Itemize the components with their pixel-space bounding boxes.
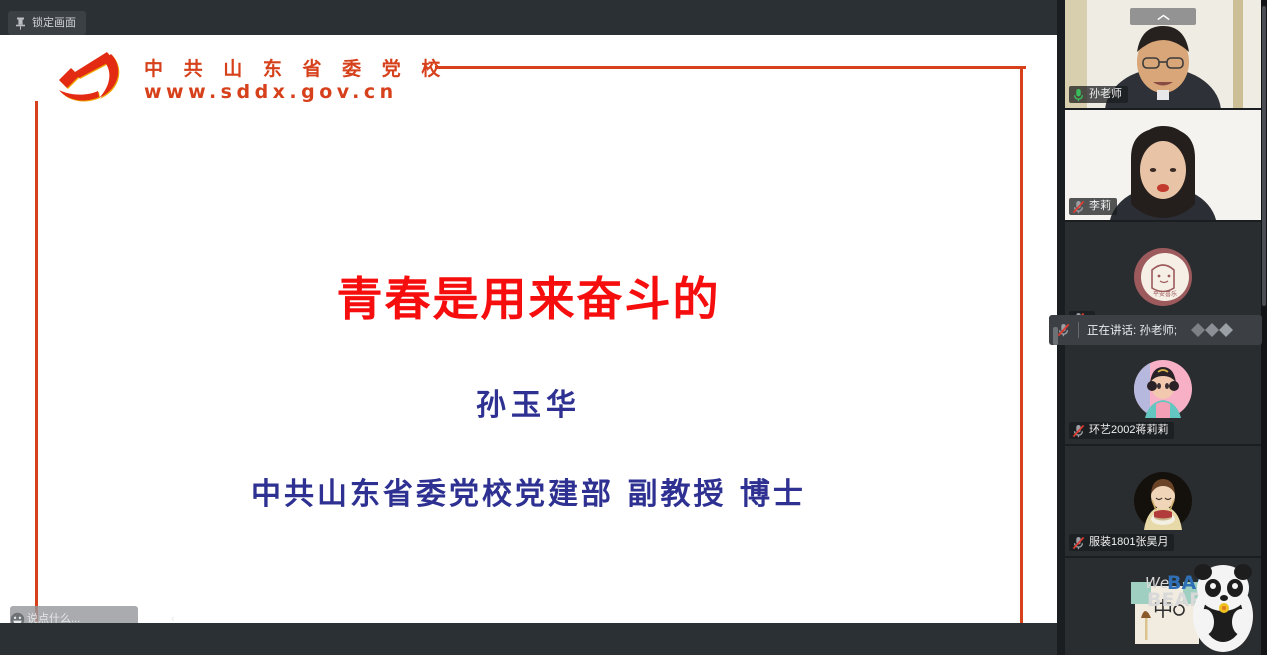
smiley-icon[interactable] (10, 606, 25, 623)
participant-name: 李莉 (1089, 199, 1111, 214)
mic-muted-icon (1057, 323, 1070, 337)
organization-website: www.sddx.gov.cn (144, 82, 447, 104)
mic-muted-icon (1072, 424, 1085, 438)
slide-wordmark: 中 共 山 东 省 委 党 校 www.sddx.gov.cn (144, 59, 447, 104)
mic-muted-icon (1072, 536, 1085, 550)
mic-muted-icon (1072, 200, 1085, 214)
shared-screen-stage: 锁定画面 (0, 0, 1057, 655)
avatar-anime-boy-icon (1134, 472, 1192, 530)
speaking-banner-text: 正在讲话: 孙老师; (1087, 322, 1177, 338)
pin-icon (15, 17, 26, 30)
participant-tile[interactable]: 中 We BARE BEARS (1065, 558, 1261, 655)
participant-name: 孙老师 (1089, 87, 1122, 102)
participant-tile[interactable]: 孙老师 (1065, 0, 1261, 108)
lock-screen-label: 锁定画面 (32, 18, 76, 29)
slide-frame (35, 66, 1023, 623)
lock-screen-button[interactable]: 锁定画面 (8, 11, 86, 35)
slide-affiliation: 中共山东省委党校党建部 副教授 博士 (0, 469, 1057, 513)
participant-name-badge: 孙老师 (1069, 86, 1128, 103)
svg-text:平安喜乐: 平安喜乐 (1153, 290, 1177, 298)
filmstrip-collapse-button[interactable] (1130, 8, 1196, 25)
slide-header: 中 共 山 东 省 委 党 校 www.sddx.gov.cn (48, 49, 447, 113)
stage-bottom-bar (0, 623, 1057, 655)
speaking-banner[interactable]: 正在讲话: 孙老师; (1049, 315, 1262, 345)
participant-tile[interactable]: 环艺2002蒋莉莉 (1065, 334, 1261, 444)
chat-input[interactable] (25, 606, 171, 623)
participant-name: 环艺2002蒋莉莉 (1089, 423, 1168, 438)
participant-tile[interactable]: 李莉 (1065, 110, 1261, 220)
chevron-left-icon[interactable]: ‹ (171, 606, 175, 623)
chevron-up-icon (1157, 8, 1170, 26)
organization-name: 中 共 山 东 省 委 党 校 (144, 59, 447, 81)
avatar-bare-bears-icon: 中 We BARE BEARS (1065, 558, 1261, 655)
stage-top-bar: 锁定画面 (0, 0, 1057, 35)
participant-name-badge: 李莉 (1069, 198, 1117, 215)
mic-on-icon (1072, 88, 1085, 102)
filmstrip-scrollbar-thumb[interactable] (1262, 6, 1266, 306)
speaking-banner-divider (1078, 322, 1079, 338)
participant-name-badge: 服装1801张昊月 (1069, 534, 1174, 551)
audio-waves-icon (1189, 322, 1235, 338)
meeting-screen: 锁定画面 (0, 0, 1267, 655)
avatar-anime-girl-icon (1134, 360, 1192, 418)
participant-name: 服装1801张昊月 (1089, 535, 1168, 550)
participant-name-badge: 环艺2002蒋莉莉 (1069, 422, 1174, 439)
speaking-banner-grip[interactable] (1053, 327, 1058, 345)
participant-avatar-area: 中 We BARE BEARS (1065, 558, 1261, 655)
slide-author: 孙玉华 (0, 380, 1057, 424)
avatar-girl-peace-icon: 平安喜乐 (1134, 248, 1192, 306)
chat-composer[interactable]: ‹ (10, 606, 138, 623)
participant-tile[interactable]: 服装1801张昊月 (1065, 446, 1261, 556)
slide-title: 青春是用来奋斗的 (0, 263, 1057, 329)
party-emblem-icon (48, 49, 130, 113)
presentation-slide[interactable]: 中 共 山 东 省 委 党 校 www.sddx.gov.cn 青春是用来奋斗的… (0, 35, 1057, 623)
